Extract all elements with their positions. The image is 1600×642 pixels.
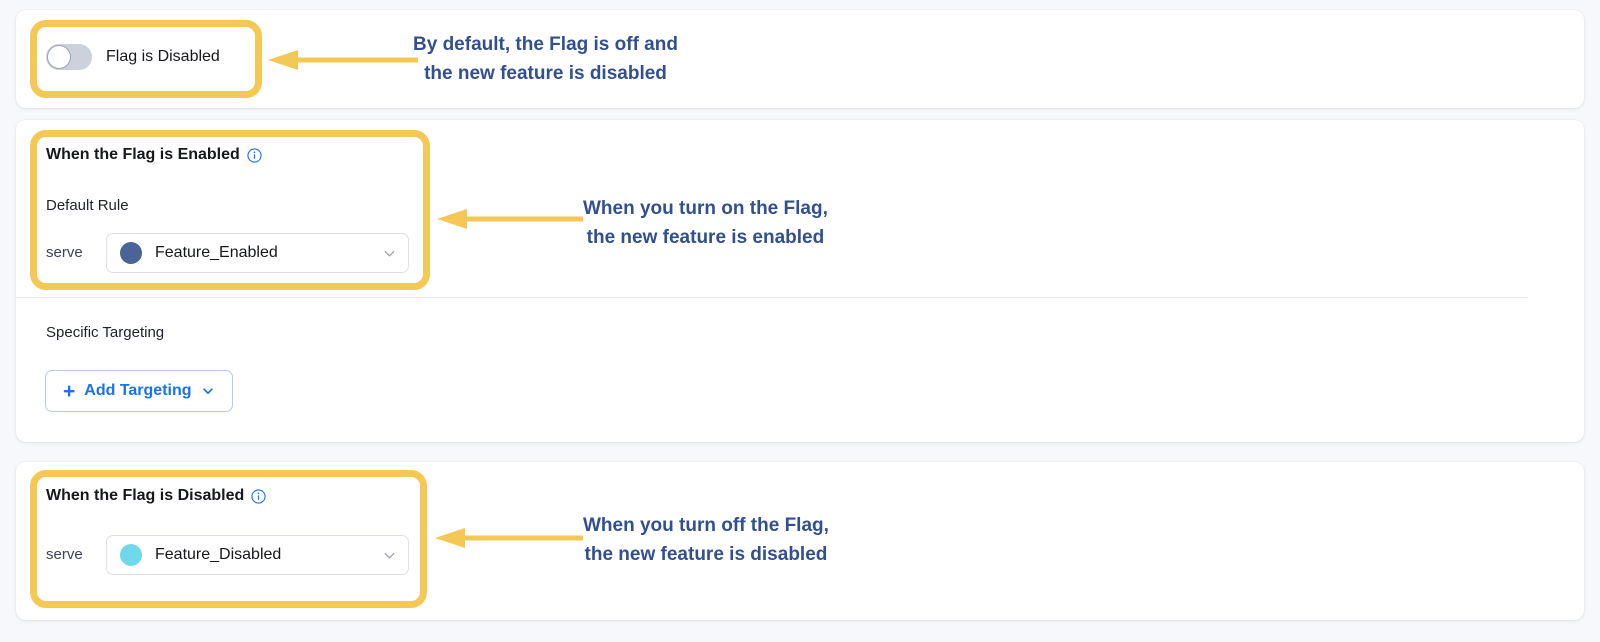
variation-color-swatch [120, 544, 142, 566]
info-circle-icon[interactable] [251, 489, 266, 504]
serve-variation-value-disabled: Feature_Disabled [155, 546, 369, 564]
section-divider [16, 297, 1528, 298]
add-targeting-label: Add Targeting [84, 382, 191, 400]
chevron-down-icon[interactable] [382, 548, 397, 563]
serve-label-enabled: serve [46, 244, 83, 261]
chevron-down-icon[interactable] [201, 384, 215, 398]
serve-variation-select-enabled[interactable]: Feature_Enabled [106, 233, 409, 273]
when-flag-enabled-card [16, 120, 1584, 442]
specific-targeting-label: Specific Targeting [46, 324, 164, 341]
annotation-turn-off: When you turn off the Flag, the new feat… [583, 512, 829, 570]
arrow-left-icon [435, 526, 583, 550]
when-flag-disabled-title: When the Flag is Disabled [46, 487, 266, 505]
flag-toggle-row[interactable]: Flag is Disabled [46, 44, 220, 70]
serve-label-disabled: serve [46, 546, 83, 563]
when-flag-enabled-title-text: When the Flag is Enabled [46, 146, 240, 164]
chevron-down-icon[interactable] [382, 246, 397, 261]
annotation-default-off: By default, the Flag is off and the new … [413, 31, 678, 89]
feature-flag-targeting-screen: Flag is Disabled When the Flag is Enable… [0, 0, 1600, 642]
when-flag-disabled-title-text: When the Flag is Disabled [46, 487, 244, 505]
default-rule-label: Default Rule [46, 197, 129, 214]
serve-variation-value-enabled: Feature_Enabled [155, 244, 369, 262]
switch-toggle-off-icon [47, 45, 71, 69]
arrow-left-icon [268, 48, 418, 72]
annotation-turn-on: When you turn on the Flag, the new featu… [583, 195, 828, 253]
variation-color-swatch [120, 242, 142, 264]
serve-variation-select-disabled[interactable]: Feature_Disabled [106, 535, 409, 575]
when-flag-enabled-title: When the Flag is Enabled [46, 146, 262, 164]
flag-toggle-card [16, 10, 1584, 108]
plus-icon: + [63, 381, 75, 402]
add-targeting-button[interactable]: + Add Targeting [45, 370, 233, 412]
flag-toggle-label: Flag is Disabled [106, 48, 220, 66]
arrow-left-icon [437, 207, 583, 231]
flag-toggle-switch[interactable] [46, 44, 92, 70]
info-circle-icon[interactable] [247, 148, 262, 163]
